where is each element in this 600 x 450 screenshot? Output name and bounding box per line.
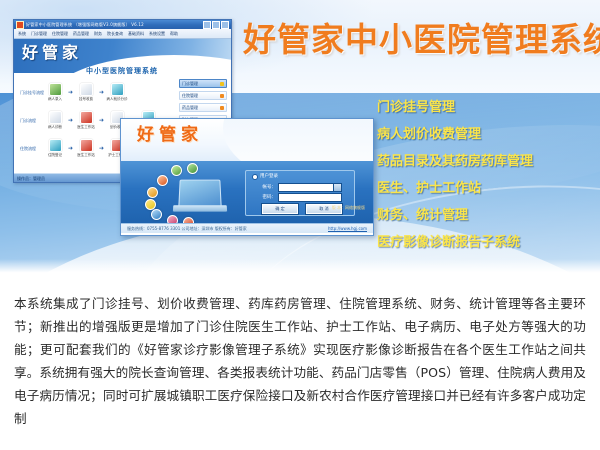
side-menu-label: 门诊管理 [182,81,198,87]
menu-bar[interactable]: 系统 门诊管理 住院管理 药品管理 财务 院长查询 基础资料 系统设置 帮助 [14,29,231,39]
menu-item-1[interactable]: 门诊管理 [31,31,47,37]
feature-list: 门诊挂号管理 病人划价收费管理 药品目录及其药房药库管理 医生、护士工作站 财务… [377,100,592,262]
side-menu-label: 住院管理 [182,93,198,99]
arrow-right-icon: ➜ [66,117,75,125]
laptop-icon [178,180,221,208]
workflow-step-icon [80,111,93,124]
login-field-label: 密码： [258,194,276,201]
login-header: 客户服务热线：0755-1234 5678 好管家 中小型医院管理系统 HOSP… [121,119,373,161]
login-footer-link[interactable]: http://www.hgj.com [328,226,367,232]
login-illustration [143,167,229,219]
account-input[interactable] [278,183,342,192]
menu-item-2[interactable]: 住院管理 [52,31,68,37]
workflow-step-label: 住院登记 [44,153,66,158]
app-logo: 好管家 [22,44,82,62]
workflow-node[interactable]: 病人就诊分诊 [106,83,128,102]
workflow-step-label: 病人诊断 [44,125,66,130]
page-root: 好管家中小医院管理系统 门诊挂号管理 病人划价收费管理 药品目录及其药房药库管理… [0,0,600,450]
ok-button[interactable]: 确 定 [262,204,298,214]
menu-item-5[interactable]: 院长查询 [107,31,123,37]
workflow-step-label: 病人录入 [44,97,66,102]
workflow-row-label: 门诊流程 [20,118,44,124]
orb-icon [157,175,168,186]
arrow-right-icon: ➜ [97,145,106,153]
bullet-icon [220,82,224,86]
login-form-title: 用户登录 [252,173,278,180]
orb-icon [147,187,158,198]
workflow-node[interactable]: 病人录入 [44,83,66,102]
arrow-right-icon: ➜ [66,89,75,97]
workflow-node[interactable]: 住院登记 [44,139,66,158]
side-menu-item-0[interactable]: 门诊管理 [179,79,227,88]
login-system-name-en: HOSPITAL MANAGEMENT OPERATION SYSTEM [241,147,354,153]
window-title: 好管家中小医院管理系统 （增强版网络版V3.0旗舰版） V6.12 [26,22,203,28]
version-label: 版 本：网络旗舰版 [332,205,365,211]
login-system-name-cn: 中小型医院管理系统 [241,135,349,146]
password-input[interactable] [278,193,342,202]
workflow-step-icon [80,83,93,96]
workflow-row-label: 门诊挂号流程 [20,90,44,96]
workflow-row-0: 门诊挂号流程 病人录入 ➜ 挂号收费 ➜ 病人就诊分诊 [20,83,172,102]
workflow-step-label: 医生工作站 [75,153,97,158]
menu-item-7[interactable]: 系统设置 [149,31,165,37]
workflow-step-label: 挂号收费 [75,97,97,102]
page-title: 好管家中小医院管理系统 [243,20,600,60]
menu-item-0[interactable]: 系统 [18,31,26,37]
login-footer-text: 服务热线：0755-8776 3301 公司地址：深圳市 版权所有：好管家 [127,226,247,232]
minimize-icon[interactable] [203,21,211,29]
menu-item-6[interactable]: 基础资料 [128,31,144,37]
login-field-account[interactable]: 帐号： [258,183,342,192]
login-body: 版 本：网络旗舰版 用户登录 帐号： [121,161,373,223]
arrow-right-icon: ➜ [66,145,75,153]
radio-icon [252,174,258,180]
window-controls[interactable] [203,21,229,29]
login-field-label: 帐号： [258,184,276,191]
bullet-icon [220,94,224,98]
login-logo: 好管家 [137,125,203,145]
workflow-step-icon [49,139,62,152]
workflow-node[interactable]: 病人诊断 [44,111,66,130]
bullet-icon [220,106,224,110]
workflow-step-icon [49,111,62,124]
window-titlebar[interactable]: 好管家中小医院管理系统 （增强版网络版V3.0旗舰版） V6.12 [14,20,231,29]
workflow-step-icon [111,83,124,96]
login-footer: 服务热线：0755-8776 3301 公司地址：深圳市 版权所有：好管家 ht… [121,223,373,233]
feature-item-4: 财务、统计管理 [377,208,592,223]
workflow-node[interactable]: 医生工作站 [75,111,97,130]
workflow-step-label: 医生工作站 [75,125,97,130]
feature-item-2: 药品目录及其药房药库管理 [377,154,592,169]
feature-item-1: 病人划价收费管理 [377,127,592,142]
arrow-right-icon: ➜ [97,117,106,125]
feature-item-0: 门诊挂号管理 [377,100,592,115]
login-field-password[interactable]: 密码： [258,193,342,202]
description-paragraph: 本系统集成了门诊挂号、划价收费管理、药库药房管理、住院管理系统、财务、统计管理等… [14,292,586,430]
orb-icon [171,165,182,176]
side-menu-item-2[interactable]: 药品管理 [179,103,227,112]
menu-item-3[interactable]: 药品管理 [73,31,89,37]
feature-item-3: 医生、护士工作站 [377,181,592,196]
workflow-step-label: 病人就诊分诊 [106,97,128,102]
hotline-text: 客户服务热线：0755-1234 5678 [306,122,367,128]
workflow-node[interactable]: 医生工作站 [75,139,97,158]
close-icon[interactable] [221,21,229,29]
side-menu-item-1[interactable]: 住院管理 [179,91,227,100]
orb-icon [167,215,178,223]
app-icon [16,21,24,29]
login-form-title-label: 用户登录 [260,173,278,180]
login-buttons[interactable]: 确 定 取 消 [262,204,342,214]
menu-item-8[interactable]: 帮助 [170,31,178,37]
app-window-login[interactable]: 客户服务热线：0755-1234 5678 好管家 中小型医院管理系统 HOSP… [120,118,374,236]
side-menu-label: 药品管理 [182,105,198,111]
feature-item-5: 医疗影像诊断报告子系统 [377,235,592,250]
menu-item-4[interactable]: 财务 [94,31,102,37]
workflow-step-icon [80,139,93,152]
orb-icon [151,209,162,220]
workflow-row-label: 住院流程 [20,146,44,152]
maximize-icon[interactable] [212,21,220,29]
workflow-node[interactable]: 挂号收费 [75,83,97,102]
orb-icon [187,163,198,174]
status-bar-operator: 操作员：管理员 [17,176,45,182]
arrow-right-icon: ➜ [97,89,106,97]
app-subtitle: 中小型医院管理系统 [86,67,158,76]
workflow-step-icon [49,83,62,96]
